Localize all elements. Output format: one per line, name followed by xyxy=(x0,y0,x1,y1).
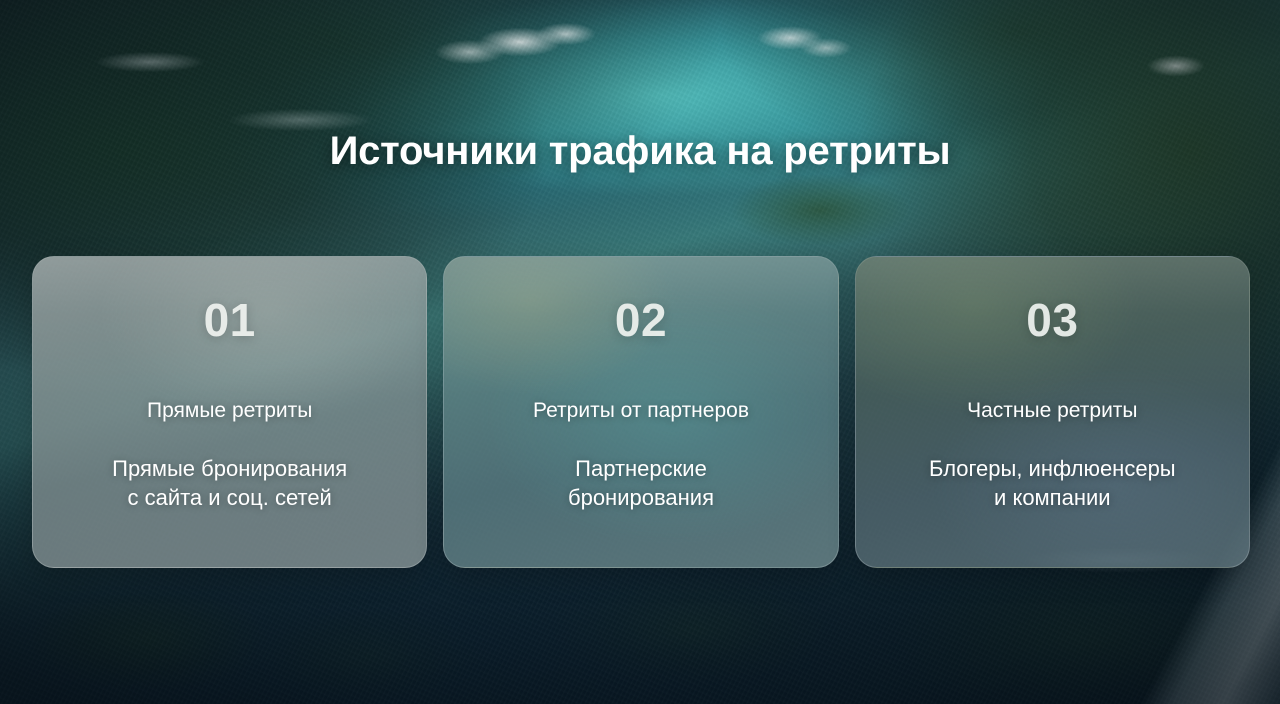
card-number: 02 xyxy=(615,297,667,343)
traffic-source-card-02[interactable]: 02 Ретриты от партнеров Партнерские брон… xyxy=(443,256,838,568)
traffic-source-card-01[interactable]: 01 Прямые ретриты Прямые бронирования с … xyxy=(32,256,427,568)
card-heading: Частные ретриты xyxy=(967,399,1137,423)
traffic-source-card-list: 01 Прямые ретриты Прямые бронирования с … xyxy=(32,256,1250,568)
card-description: Прямые бронирования с сайта и соц. сетей xyxy=(112,454,347,512)
card-heading: Прямые ретриты xyxy=(147,399,312,423)
page-title: Источники трафика на ретриты xyxy=(0,129,1280,174)
card-description: Блогеры, инфлюенсеры и компании xyxy=(929,454,1176,512)
slide-root: Источники трафика на ретриты 01 Прямые р… xyxy=(0,0,1280,704)
card-number: 03 xyxy=(1026,297,1078,343)
card-number: 01 xyxy=(204,297,256,343)
traffic-source-card-03[interactable]: 03 Частные ретриты Блогеры, инфлюенсеры … xyxy=(855,256,1250,568)
card-description: Партнерские бронирования xyxy=(568,454,714,512)
card-heading: Ретриты от партнеров xyxy=(533,399,749,423)
